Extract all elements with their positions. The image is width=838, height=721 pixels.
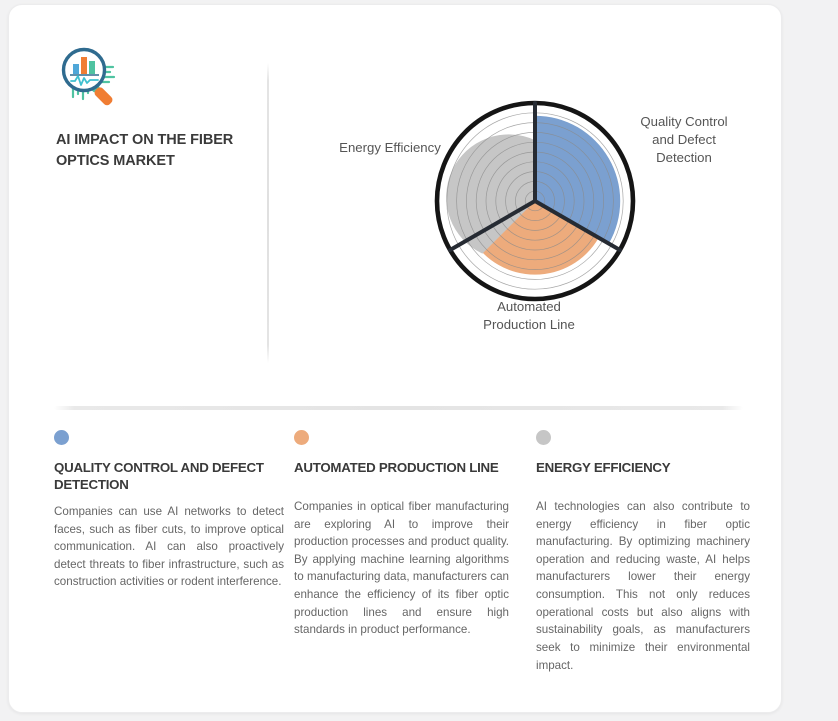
horizontal-divider bbox=[54, 406, 743, 410]
chart-label-quality-line2: and Defect bbox=[652, 132, 716, 147]
detail-column-automated: AUTOMATED PRODUCTION LINE Companies in o… bbox=[294, 430, 509, 639]
legend-dot-quality bbox=[54, 430, 69, 445]
chart-label-quality-line3: Detection bbox=[656, 150, 712, 165]
chart-label-quality-line1: Quality Control bbox=[640, 114, 727, 129]
vertical-divider bbox=[267, 63, 269, 363]
polar-area-chart: Quality Control and Defect Detection Ene… bbox=[309, 83, 769, 358]
chart-label-automated: Automated Production Line bbox=[454, 298, 604, 334]
column-body-automated: Companies in optical fiber manufacturing… bbox=[294, 498, 509, 639]
column-body-quality: Companies can use AI networks to detect … bbox=[54, 503, 284, 591]
column-title-automated: AUTOMATED PRODUCTION LINE bbox=[294, 459, 509, 476]
magnifier-bar-chart-icon bbox=[55, 45, 129, 111]
column-body-energy: AI technologies can also contribute to e… bbox=[536, 498, 750, 674]
legend-dot-energy bbox=[536, 430, 551, 445]
column-title-energy: ENERGY EFFICIENCY bbox=[536, 459, 750, 476]
chart-label-automated-line2: Production Line bbox=[483, 317, 575, 332]
chart-label-energy: Energy Efficiency bbox=[325, 139, 455, 157]
chart-label-automated-line1: Automated bbox=[497, 299, 561, 314]
infographic-card: AI IMPACT ON THE FIBER OPTICS MARKET bbox=[8, 4, 782, 713]
column-title-quality: QUALITY CONTROL AND DEFECT DETECTION bbox=[54, 459, 284, 493]
detail-column-quality: QUALITY CONTROL AND DEFECT DETECTION Com… bbox=[54, 430, 284, 591]
detail-column-energy: ENERGY EFFICIENCY AI technologies can al… bbox=[536, 430, 750, 674]
chart-label-quality: Quality Control and Defect Detection bbox=[619, 113, 749, 166]
legend-dot-automated bbox=[294, 430, 309, 445]
page-title: AI IMPACT ON THE FIBER OPTICS MARKET bbox=[56, 130, 256, 172]
